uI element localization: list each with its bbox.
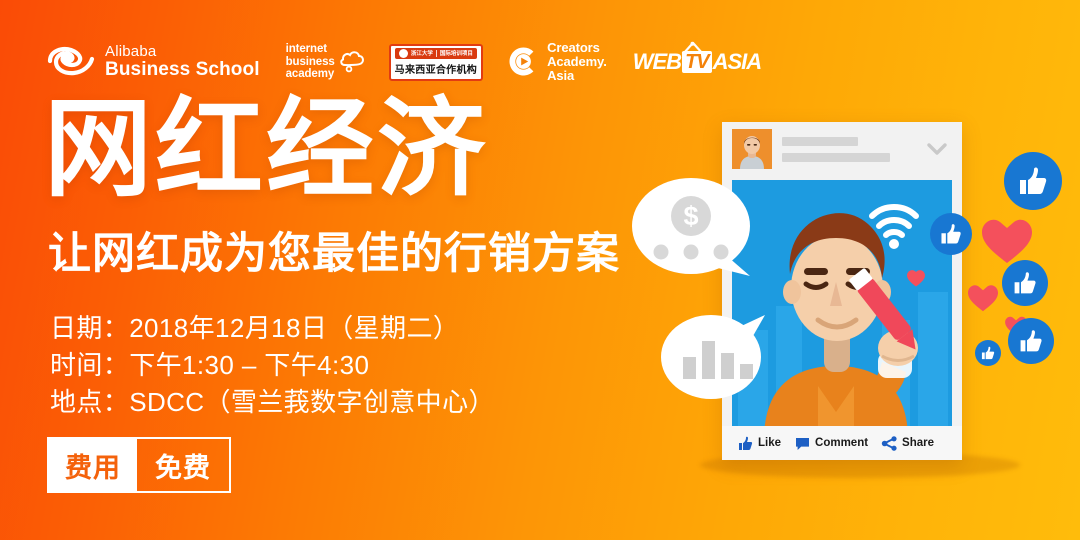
post-action-bar: Like Comment: [722, 426, 962, 460]
malaysia-partner-badge: 浙江大学 国际培训项目: [395, 48, 477, 59]
detail-venue: 地点：SDCC（雪兰莪数字创意中心）: [50, 384, 495, 421]
page-title: 网红经济: [44, 96, 488, 204]
play-circle-icon: [507, 45, 540, 78]
reaction-thumbs-up-4: [1008, 318, 1054, 364]
creators-line3: Asia: [547, 69, 607, 83]
malaysia-badge-left: 浙江大学: [411, 49, 433, 57]
cloud-icon: [337, 47, 367, 73]
reaction-thumbs-up-2: [930, 213, 972, 255]
placeholder-line-2: [782, 153, 890, 162]
share-action[interactable]: Share: [882, 436, 934, 451]
comment-label: Comment: [815, 437, 868, 449]
chevron-down-icon[interactable]: [924, 136, 950, 162]
social-post-card: Like Comment: [722, 122, 962, 460]
fee-value: 免费: [137, 439, 229, 491]
money-speech-bubble: $: [632, 176, 750, 276]
post-card-header: [722, 122, 962, 176]
detail-date: 日期：2018年12月18日（星期二）: [50, 310, 495, 347]
malaysia-partner-main: 马来西亚合作机构: [395, 61, 477, 76]
event-details: 日期：2018年12月18日（星期二） 时间：下午1:30 – 下午4:30 地…: [50, 310, 495, 421]
badge-divider: [436, 50, 437, 57]
thumbs-up-icon: [738, 436, 753, 451]
share-icon: [882, 436, 897, 451]
iba-line2: business: [286, 56, 335, 69]
alibaba-a-mark-icon: [46, 45, 96, 79]
avatar: [732, 129, 772, 169]
logo-internet-business-academy: internet business academy: [286, 43, 367, 82]
chart-speech-bubble: [661, 313, 761, 395]
logo-strip: Alibaba Business School internet busines…: [46, 36, 761, 88]
reaction-heart-1: [982, 218, 1032, 264]
webtv-part1: WEB: [633, 51, 681, 73]
logo-malaysia-partner: 浙江大学 国际培训项目 马来西亚合作机构: [389, 44, 483, 81]
reaction-heart-2: [968, 284, 998, 312]
creators-line1: Creators: [547, 41, 607, 55]
iba-line3: academy: [286, 68, 335, 81]
tv-antenna-icon: [680, 42, 706, 54]
iba-line1: internet: [286, 43, 335, 56]
creators-line2: Academy.: [547, 55, 607, 69]
reaction-thumbs-up-5: [975, 340, 1001, 366]
university-seal-icon: [399, 49, 408, 58]
post-placeholder-lines: [782, 137, 924, 162]
logo-webtv-asia: WEB TV ASIA: [633, 51, 761, 73]
webtv-part3: ASIA: [713, 51, 762, 73]
logo-alibaba-business-school: Alibaba Business School: [46, 44, 260, 79]
webtv-part2: TV: [682, 51, 712, 73]
comment-icon: [795, 436, 810, 451]
alibaba-line2: Business School: [105, 60, 260, 80]
comment-action[interactable]: Comment: [795, 436, 868, 451]
like-action[interactable]: Like: [738, 436, 781, 451]
svg-text:$: $: [683, 201, 698, 231]
reaction-thumbs-up-3: [1002, 260, 1048, 306]
fee-label: 费用: [49, 439, 137, 491]
fee-badge: 费用 免费: [47, 437, 231, 493]
promo-banner: Alibaba Business School internet busines…: [0, 0, 1080, 540]
logo-creators-academy-asia: Creators Academy. Asia: [507, 41, 607, 82]
page-subtitle: 让网红成为您最佳的行销方案: [48, 233, 620, 276]
reaction-thumbs-up-1: [1004, 152, 1062, 210]
share-label: Share: [902, 437, 934, 449]
alibaba-line1: Alibaba: [105, 44, 260, 60]
malaysia-badge-right: 国际培训项目: [440, 49, 473, 57]
detail-time: 时间：下午1:30 – 下午4:30: [50, 347, 495, 384]
like-label: Like: [758, 437, 781, 449]
placeholder-line-1: [782, 137, 858, 146]
